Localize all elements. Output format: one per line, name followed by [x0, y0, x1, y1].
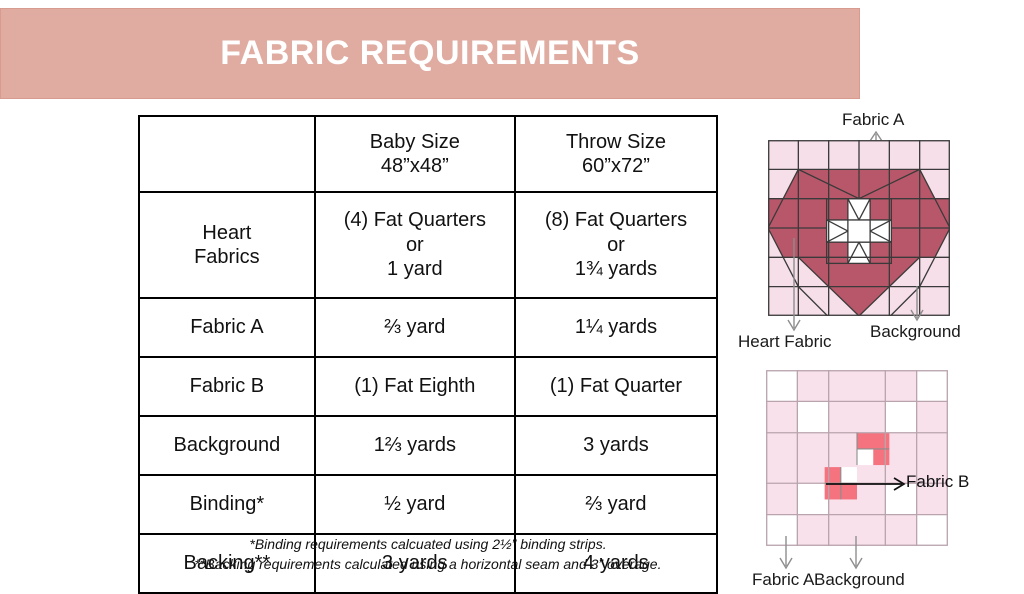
- cell-fabric-a-throw: 1¼ yards: [515, 298, 717, 357]
- table-row: Binding* ½ yard ⅔ yard: [139, 475, 717, 534]
- sashing-block-label-background: Background: [814, 570, 905, 590]
- header-banner: FABRIC REQUIREMENTS: [0, 8, 860, 99]
- header-cell-corner: [139, 116, 315, 192]
- cell-fabric-a-baby: ⅔ yard: [315, 298, 515, 357]
- table-row: Heart Fabrics (4) Fat Quarters or 1 yard…: [139, 192, 717, 298]
- cell-line2: or: [318, 233, 512, 257]
- table-footnotes: *Binding requirements calcuated using 2½…: [138, 534, 718, 575]
- block-diagrams-panel: Fabric A: [730, 110, 1024, 580]
- row-label-background: Background: [139, 416, 315, 475]
- background-arrow-sashing: [730, 110, 1024, 580]
- cell-line1: (8) Fat Quarters: [518, 208, 714, 232]
- cell-binding-baby: ½ yard: [315, 475, 515, 534]
- row-label-fabric-b: Fabric B: [139, 357, 315, 416]
- row-label-heart-fabrics: Heart Fabrics: [139, 192, 315, 298]
- header-cell-baby-size: Baby Size 48”x48”: [315, 116, 515, 192]
- footnote-binding: *Binding requirements calcuated using 2½…: [138, 534, 718, 554]
- row-label-binding: Binding*: [139, 475, 315, 534]
- header-throw-title: Throw Size: [518, 130, 714, 154]
- table-header-row: Baby Size 48”x48” Throw Size 60”x72”: [139, 116, 717, 192]
- cell-line3: 1 yard: [318, 257, 512, 281]
- cell-line1: (4) Fat Quarters: [318, 208, 512, 232]
- cell-line3: 1¾ yards: [518, 257, 714, 281]
- header-baby-title: Baby Size: [318, 130, 512, 154]
- header-cell-throw-size: Throw Size 60”x72”: [515, 116, 717, 192]
- cell-heart-fabrics-baby: (4) Fat Quarters or 1 yard: [315, 192, 515, 298]
- header-baby-dims: 48”x48”: [318, 154, 512, 178]
- cell-heart-fabrics-throw: (8) Fat Quarters or 1¾ yards: [515, 192, 717, 298]
- cell-background-baby: 1⅔ yards: [315, 416, 515, 475]
- cell-binding-throw: ⅔ yard: [515, 475, 717, 534]
- table-row: Fabric A ⅔ yard 1¼ yards: [139, 298, 717, 357]
- footnote-backing: **Backing requirements calculated using …: [138, 554, 718, 574]
- header-throw-dims: 60”x72”: [518, 154, 714, 178]
- row-label-line2: Fabrics: [142, 245, 312, 269]
- row-label-line1: Heart: [142, 221, 312, 245]
- cell-line2: or: [518, 233, 714, 257]
- cell-fabric-b-baby: (1) Fat Eighth: [315, 357, 515, 416]
- row-label-fabric-a: Fabric A: [139, 298, 315, 357]
- cell-background-throw: 3 yards: [515, 416, 717, 475]
- cell-fabric-b-throw: (1) Fat Quarter: [515, 357, 717, 416]
- page-title: FABRIC REQUIREMENTS: [220, 34, 639, 73]
- table-row: Fabric B (1) Fat Eighth (1) Fat Quarter: [139, 357, 717, 416]
- fabric-requirements-table: Baby Size 48”x48” Throw Size 60”x72” Hea…: [138, 115, 718, 594]
- table-row: Background 1⅔ yards 3 yards: [139, 416, 717, 475]
